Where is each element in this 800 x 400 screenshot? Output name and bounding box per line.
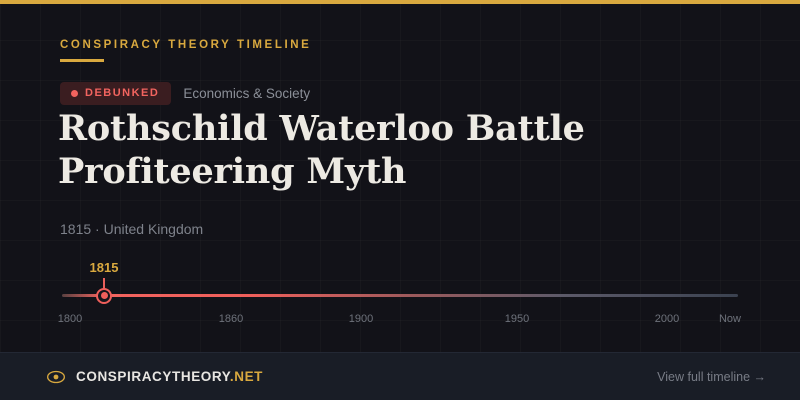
brand-name: CONSPIRACYTHEORY.NET [76, 369, 263, 385]
timeline-tick-label: 1800 [58, 312, 82, 326]
eyebrow-underline [60, 59, 104, 62]
timeline-marker-core [101, 292, 108, 299]
badge-row: DEBUNKED Economics & Society [60, 82, 310, 105]
timeline[interactable]: 1815 18001860190019502000Now [0, 256, 800, 336]
timeline-tick-label: 1950 [505, 312, 529, 326]
status-badge: DEBUNKED [60, 82, 171, 105]
brand-tld: .NET [230, 369, 263, 384]
timeline-marker-label: 1815 [90, 260, 119, 275]
status-badge-label: DEBUNKED [85, 87, 159, 100]
timeline-tick-label: Now [719, 312, 741, 326]
card-content: CONSPIRACY THEORY TIMELINE DEBUNKED Econ… [0, 4, 800, 352]
brand[interactable]: CONSPIRACYTHEORY.NET [46, 367, 263, 387]
view-full-timeline-link[interactable]: View full timeline → [657, 369, 766, 385]
conspiracy-timeline-card: CONSPIRACY THEORY TIMELINE DEBUNKED Econ… [0, 0, 800, 400]
meta-line: 1815 · United Kingdom [60, 220, 203, 238]
footer-bar: CONSPIRACYTHEORY.NET View full timeline … [0, 352, 800, 400]
eyebrow-label: CONSPIRACY THEORY TIMELINE [60, 38, 311, 52]
brand-name-main: CONSPIRACYTHEORY [76, 369, 230, 384]
eye-icon [46, 367, 66, 387]
status-dot-icon [71, 90, 78, 97]
timeline-tick-label: 2000 [655, 312, 679, 326]
timeline-tick-label: 1900 [349, 312, 373, 326]
page-title: Rothschild Waterloo Battle Profiteering … [58, 107, 678, 193]
category-label: Economics & Society [183, 86, 310, 102]
timeline-tick-label: 1860 [219, 312, 243, 326]
timeline-track[interactable] [62, 294, 738, 297]
eyebrow-section: CONSPIRACY THEORY TIMELINE [60, 38, 311, 62]
